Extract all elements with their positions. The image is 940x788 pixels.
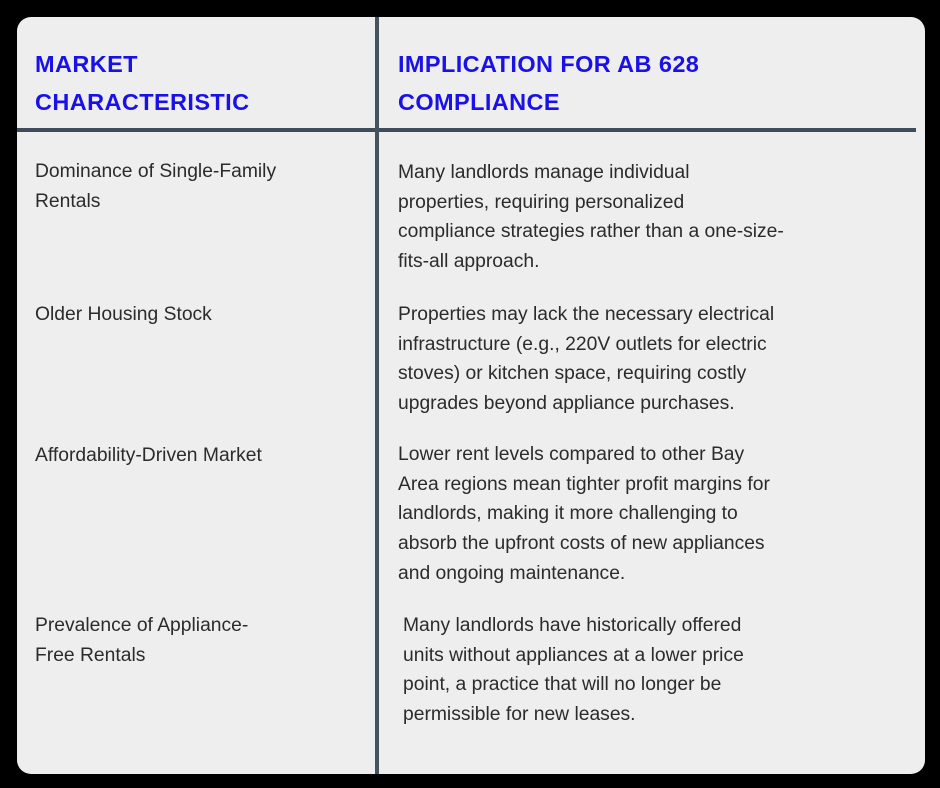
table-header-cell-implication: IMPLICATION FOR AB 628 COMPLIANCE <box>379 45 925 129</box>
table-row: Properties may lack the necessary electr… <box>379 300 925 419</box>
row-4-characteristic: Prevalence of Appliance- Free Rentals <box>35 611 361 670</box>
column-header-market-characteristic: MARKET CHARACTERISTIC <box>35 45 361 122</box>
row-3-characteristic: Affordability-Driven Market <box>35 441 361 471</box>
row-2-implication: Properties may lack the necessary electr… <box>398 300 907 419</box>
table-row: Many landlords have historically offered… <box>379 611 925 730</box>
row-2-characteristic: Older Housing Stock <box>35 300 361 330</box>
column-divider-line <box>375 17 379 774</box>
table-row: Many landlords manage individual propert… <box>379 158 925 277</box>
comparison-table-card: MARKET CHARACTERISTIC IMPLICATION FOR AB… <box>17 17 925 774</box>
table-row: Affordability-Driven Market <box>17 441 375 471</box>
column-header-implication-ab628: IMPLICATION FOR AB 628 COMPLIANCE <box>398 45 907 122</box>
row-4-implication: Many landlords have historically offered… <box>403 611 907 730</box>
table-row: Lower rent levels compared to other Bay … <box>379 440 925 589</box>
table-row: Dominance of Single-Family Rentals <box>17 157 375 216</box>
row-3-implication: Lower rent levels compared to other Bay … <box>398 440 907 589</box>
row-1-implication: Many landlords manage individual propert… <box>398 158 907 277</box>
header-divider-rule <box>17 128 916 132</box>
table-row: Prevalence of Appliance- Free Rentals <box>17 611 375 670</box>
screenshot-canvas: MARKET CHARACTERISTIC IMPLICATION FOR AB… <box>0 0 940 788</box>
table-row: Older Housing Stock <box>17 300 375 330</box>
table-header-cell-characteristic: MARKET CHARACTERISTIC <box>17 45 375 129</box>
row-1-characteristic: Dominance of Single-Family Rentals <box>35 157 361 216</box>
